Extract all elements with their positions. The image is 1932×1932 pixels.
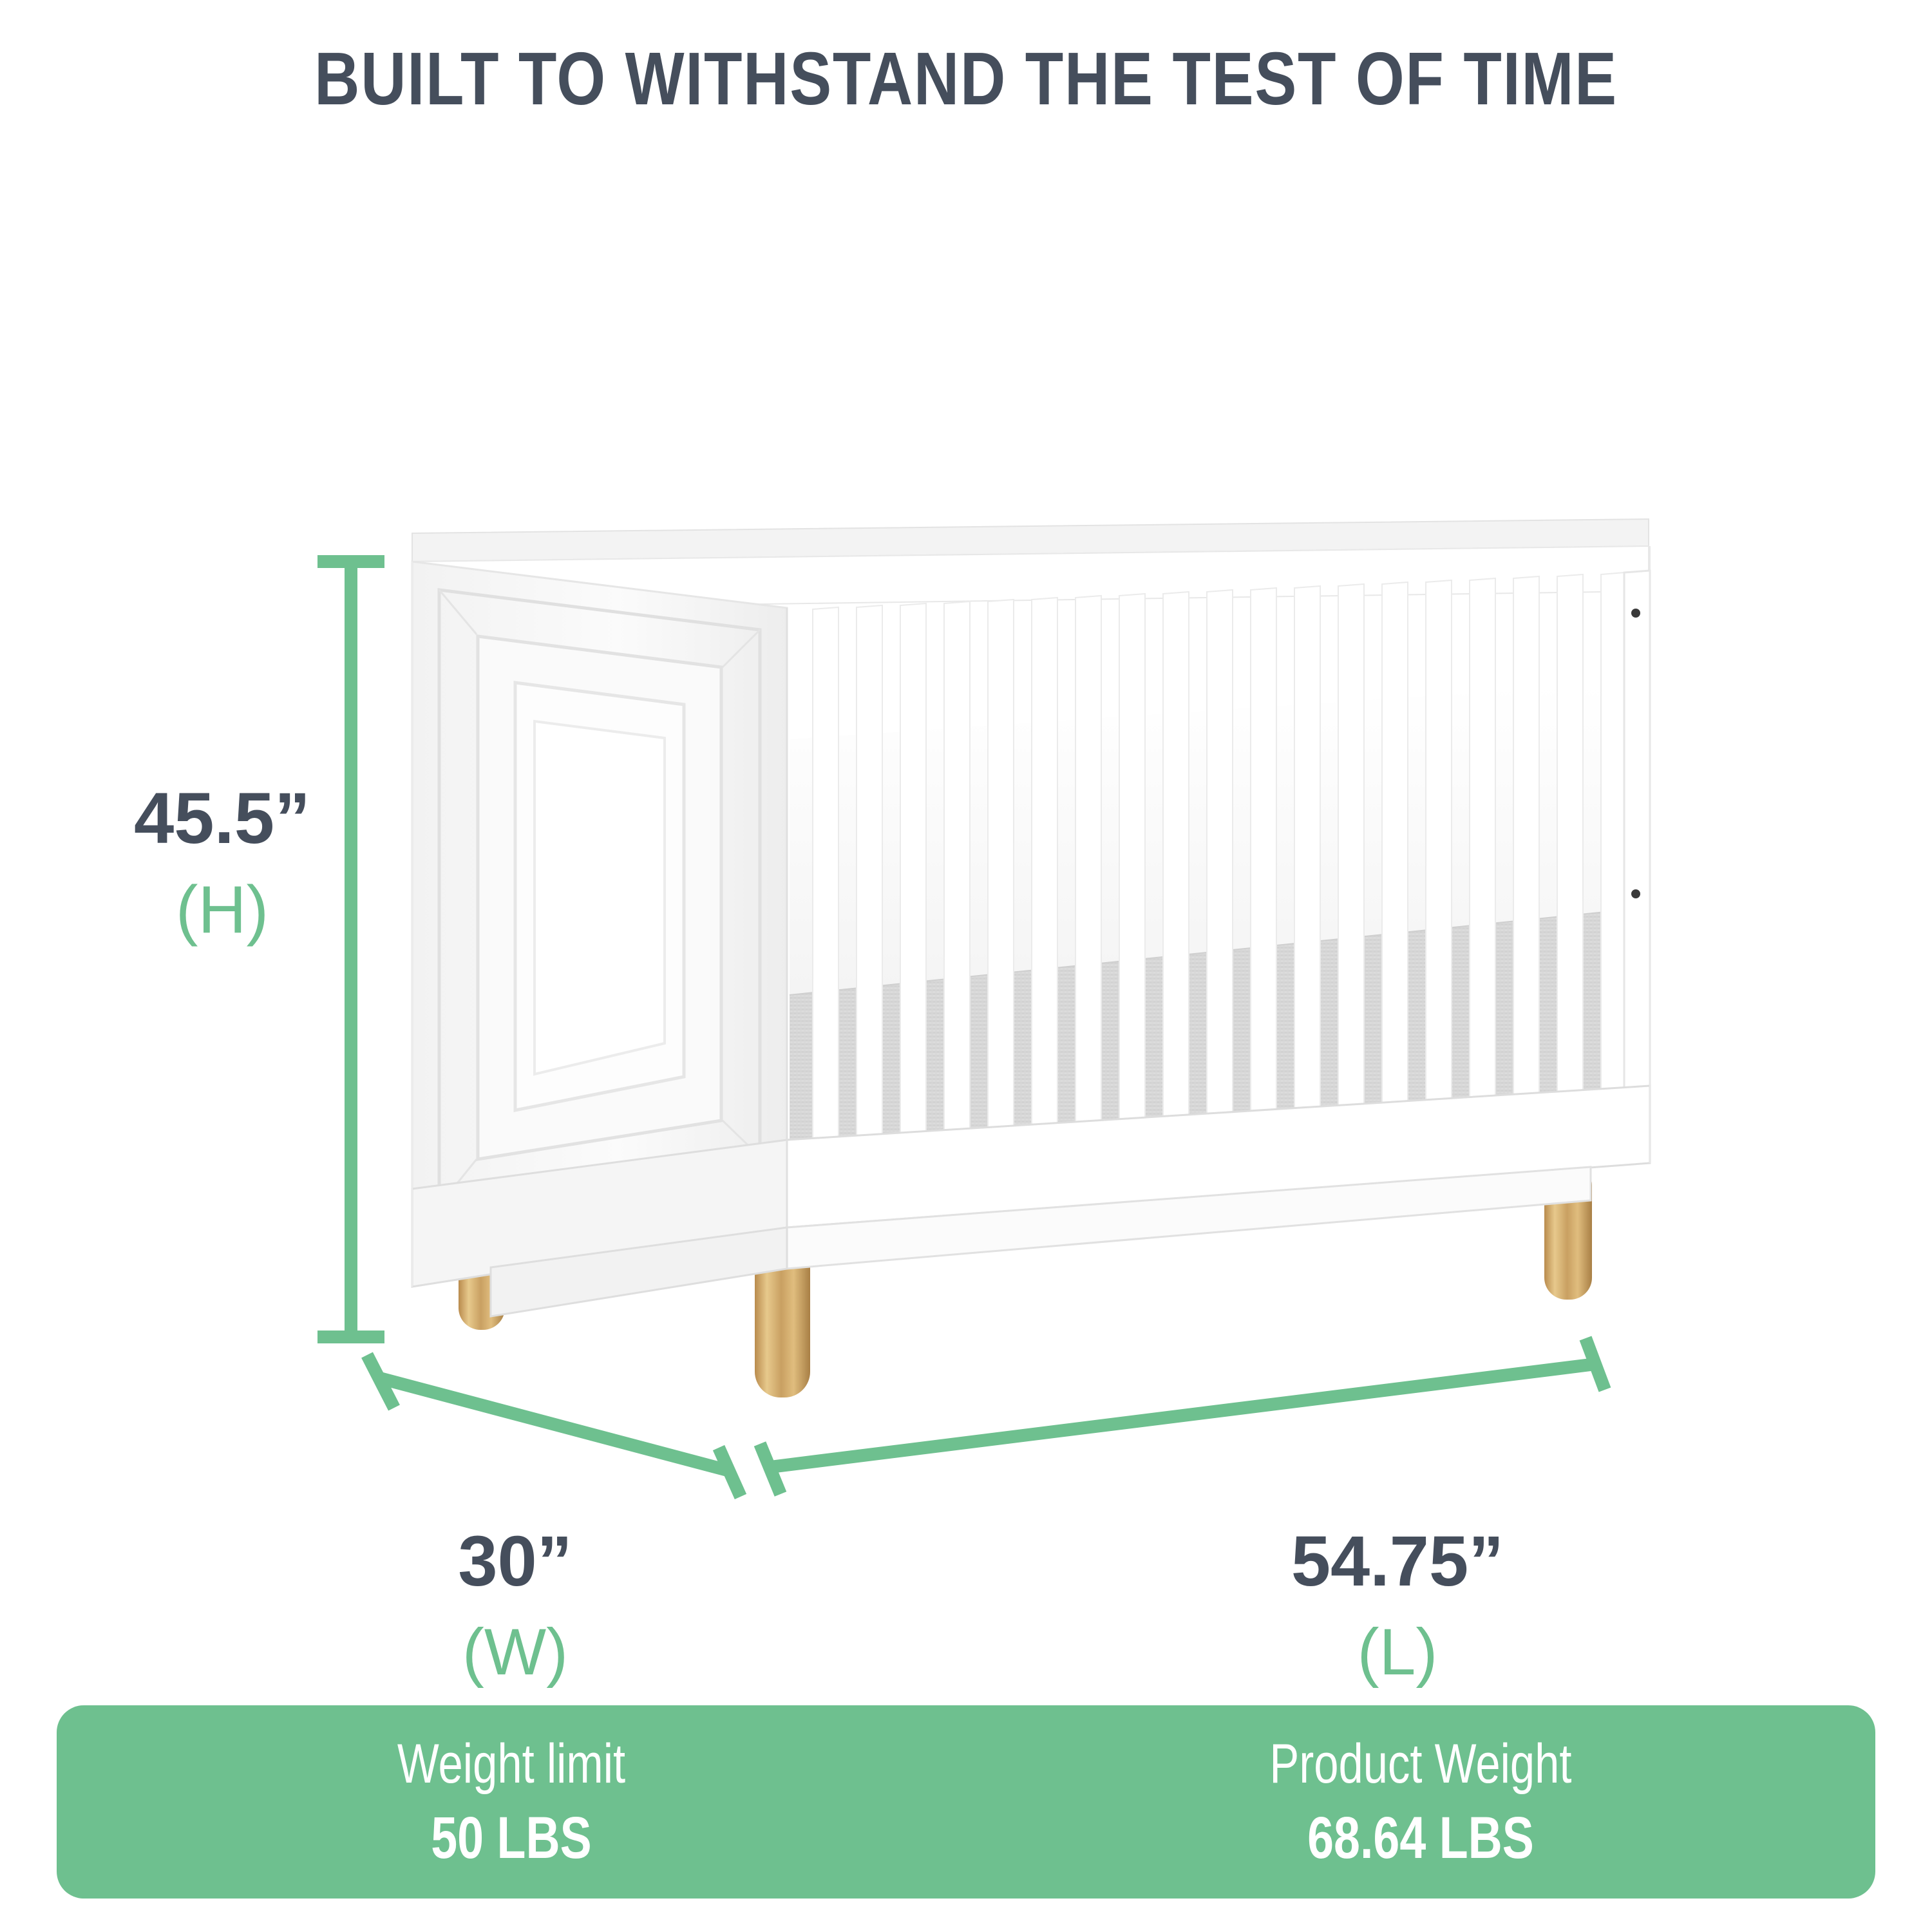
base-left-band <box>412 1140 787 1287</box>
leg-rear-left <box>459 1182 505 1330</box>
back-top-rail <box>412 519 1649 562</box>
plinth-left <box>491 1227 787 1316</box>
stat-product-weight: Product Weight 68.64 LBS <box>966 1735 1875 1870</box>
dimension-length-value: 54.75” <box>1172 1526 1623 1597</box>
stat-weight-limit-label: Weight limit <box>147 1735 875 1793</box>
headboard-molding-mid <box>478 636 721 1159</box>
width-cap-right <box>719 1448 741 1497</box>
dust-skirt <box>790 911 1624 1153</box>
crib-slats <box>813 573 1624 1167</box>
stat-weight-limit-value: 50 LBS <box>147 1807 875 1870</box>
dimension-height-axis: (H) <box>84 876 361 943</box>
front-top-rail <box>412 546 1649 609</box>
length-guide-line <box>770 1364 1596 1467</box>
dimension-guides <box>317 558 1605 1497</box>
leg-rear-right <box>1544 1163 1592 1300</box>
width-guide-line <box>380 1378 730 1471</box>
page-title: BUILT TO WITHSTAND THE TEST OF TIME <box>155 35 1777 122</box>
stat-product-weight-value: 68.64 LBS <box>1057 1807 1785 1870</box>
headboard-raised-panel <box>535 721 665 1074</box>
dimension-width-axis: (W) <box>386 1619 644 1685</box>
stat-product-weight-label: Product Weight <box>1057 1735 1785 1793</box>
mattress-edge <box>790 911 1624 996</box>
dimension-width-value: 30” <box>386 1526 644 1597</box>
hardware-dot <box>1631 609 1640 618</box>
length-cap-left <box>760 1444 781 1494</box>
base-front-band <box>787 1086 1650 1227</box>
width-cap-left <box>367 1355 394 1408</box>
length-cap-right <box>1586 1338 1605 1390</box>
plinth-front <box>787 1167 1591 1269</box>
hardware-dot <box>1631 889 1640 898</box>
leg-front-left <box>755 1227 810 1397</box>
mattress <box>790 683 1624 996</box>
crib-legs <box>459 1163 1592 1397</box>
stat-weight-limit: Weight limit 50 LBS <box>57 1735 966 1870</box>
dimension-height: 45.5” (H) <box>84 782 361 943</box>
headboard-panel <box>412 562 787 1235</box>
dimension-length: 54.75” (L) <box>1172 1526 1623 1685</box>
crib-body <box>412 519 1650 1316</box>
dimension-width: 30” (W) <box>386 1526 644 1685</box>
product-illustration <box>0 0 1932 1932</box>
infographic-page: BUILT TO WITHSTAND THE TEST OF TIME <box>0 0 1932 1932</box>
dimension-height-value: 45.5” <box>84 782 361 855</box>
headboard-molding-inner <box>515 683 684 1110</box>
right-end-post <box>1624 571 1650 1121</box>
stats-bar: Weight limit 50 LBS Product Weight 68.64… <box>57 1705 1875 1899</box>
headboard-molding-outer <box>439 590 760 1206</box>
dimension-length-axis: (L) <box>1172 1619 1623 1685</box>
